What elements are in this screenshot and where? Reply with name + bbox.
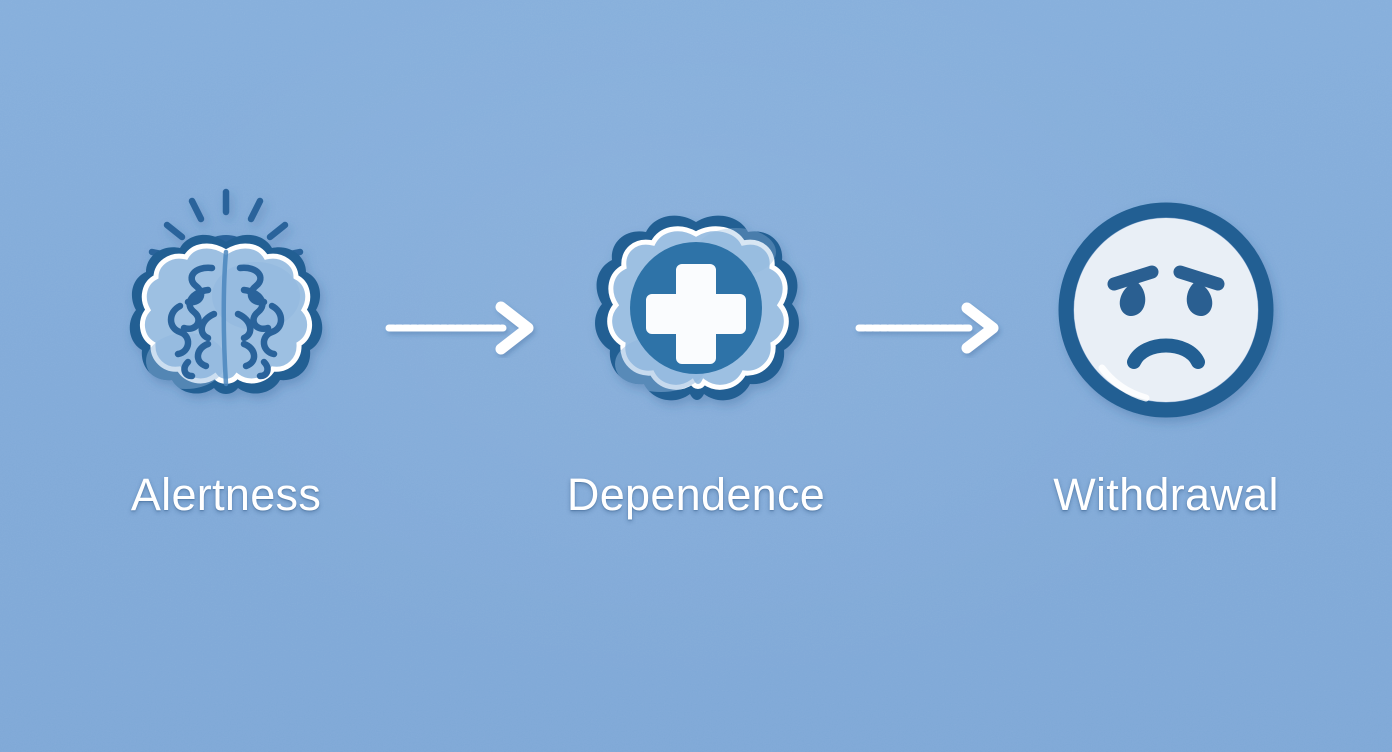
sad-face-icon: [1016, 166, 1316, 466]
brain-with-sunburst-icon: [76, 166, 376, 466]
brain-central-fissure: [224, 252, 226, 384]
stage-alertness[interactable]: Alertness: [76, 166, 376, 586]
arrow-dependence-to-withdrawal: [846, 178, 1016, 478]
stage-withdrawal[interactable]: Withdrawal: [1016, 166, 1316, 586]
brain-with-medical-cross-icon: [546, 166, 846, 466]
diagram-canvas: Alertness: [0, 0, 1392, 752]
stage-label-dependence: Dependence: [567, 472, 825, 517]
face-fill: [1074, 218, 1258, 402]
stage-dependence[interactable]: Dependence: [546, 166, 846, 586]
stage-label-withdrawal: Withdrawal: [1053, 472, 1279, 517]
process-flow: Alertness: [0, 0, 1392, 752]
arrow-alertness-to-dependence: [376, 178, 546, 478]
stage-label-alertness: Alertness: [131, 472, 321, 517]
